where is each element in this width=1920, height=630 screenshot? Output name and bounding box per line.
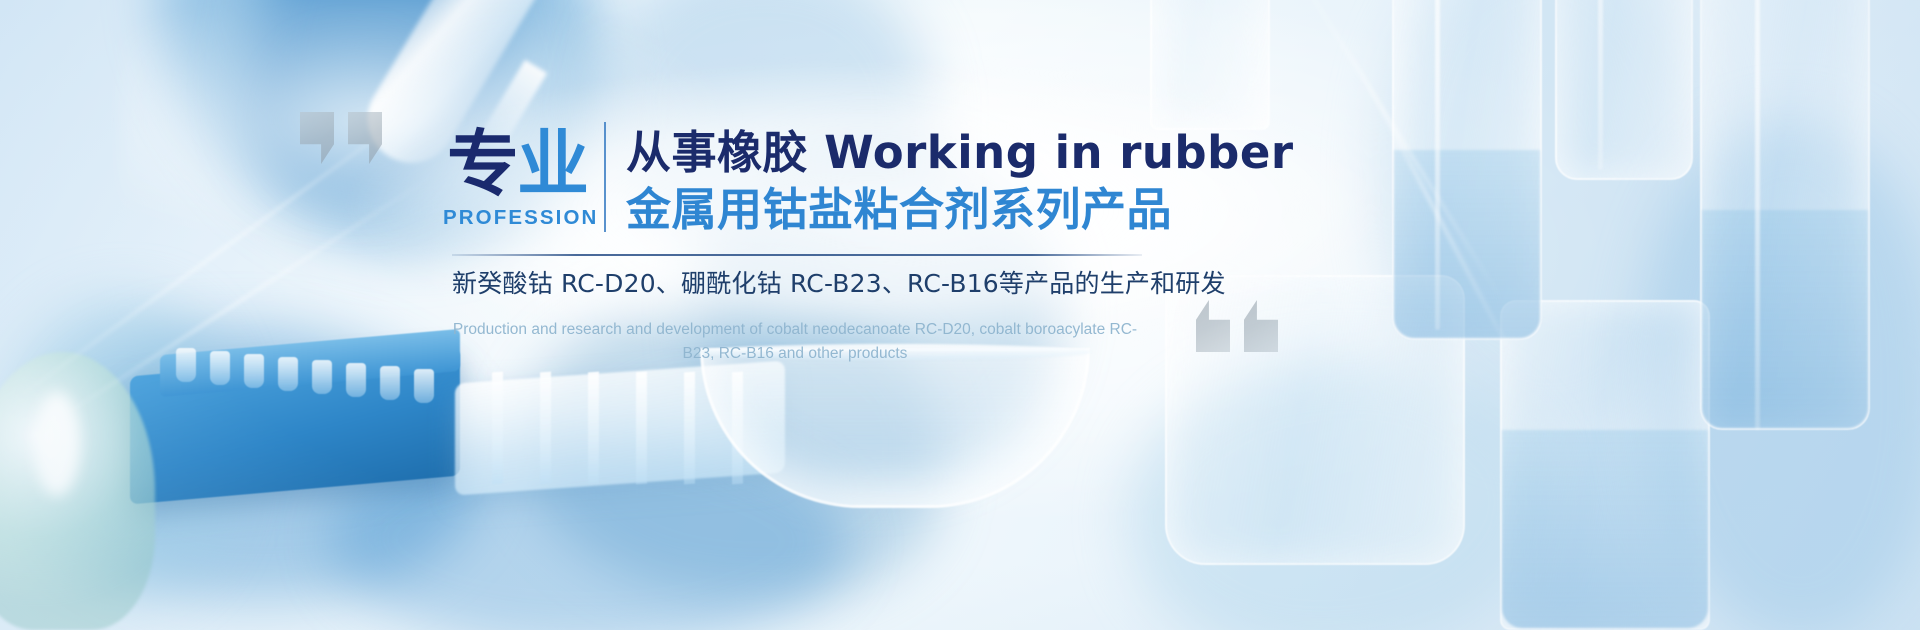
- horizontal-divider: [452, 254, 1142, 256]
- subtitle-chinese: 新癸酸钴 RC-D20、硼酰化钴 RC-B23、RC-B16等产品的生产和研发: [452, 264, 1142, 300]
- brand-logo: 专业 PROFESSION: [443, 128, 591, 230]
- headline-line-2: 金属用钴盐粘合剂系列产品: [626, 183, 1294, 238]
- brand-logo-subtitle: PROFESSION: [443, 206, 591, 230]
- headline-line-1: 从事橡胶 Working in rubber: [626, 126, 1294, 181]
- headline-block: 从事橡胶 Working in rubber 金属用钴盐粘合剂系列产品: [626, 126, 1294, 238]
- brand-logo-characters: 专业: [443, 128, 591, 201]
- banner-content: 专业 PROFESSION 从事橡胶 Working in rubber 金属用…: [0, 0, 1920, 630]
- vertical-divider: [604, 122, 606, 232]
- subtitle-english: Production and research and development …: [440, 318, 1150, 366]
- brand-logo-char-primary: 专: [447, 122, 517, 206]
- hero-banner: 专业 PROFESSION 从事橡胶 Working in rubber 金属用…: [0, 0, 1920, 630]
- brand-logo-char-secondary: 业: [517, 122, 587, 206]
